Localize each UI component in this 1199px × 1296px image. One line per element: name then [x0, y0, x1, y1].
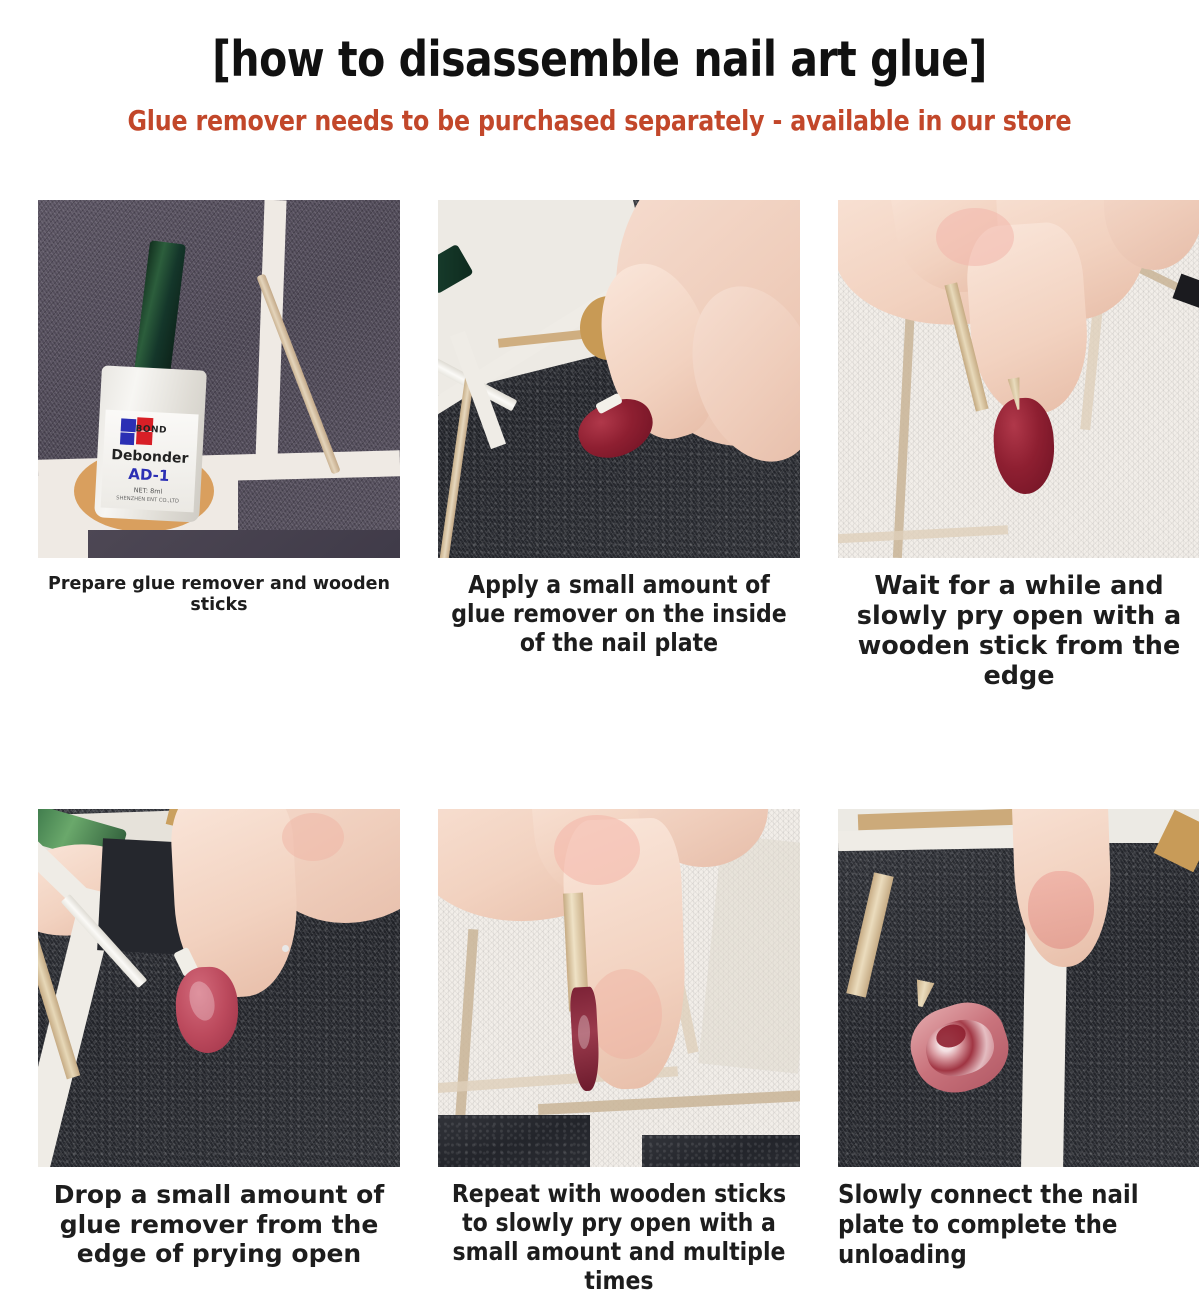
step-image-5: [438, 809, 800, 1167]
wooden-stick-tip: [911, 980, 934, 1009]
step-caption-5: Repeat with wooden sticks to slowly pry …: [438, 1167, 800, 1296]
towel-stripe-horizontal-2: [538, 1090, 800, 1115]
step-card-2: Apply a small amount of glue remover on …: [438, 200, 800, 691]
towel-stripe-vertical: [893, 286, 916, 558]
mat-dark-square-right: [642, 1135, 800, 1167]
step-card-6: Slowly connect the nail plate to complet…: [838, 809, 1199, 1296]
nail-bed-highlight: [554, 815, 640, 885]
bottle-cap: [134, 240, 186, 376]
step-caption-2: Apply a small amount of glue remover on …: [438, 558, 800, 658]
step-image-4: [38, 809, 400, 1167]
mat-dark-square-left: [438, 1115, 590, 1167]
fingernail: [1028, 871, 1094, 949]
mat-dark-bottom: [88, 530, 400, 558]
step-image-3: [838, 200, 1199, 558]
step-card-4: Drop a small amount of glue remover from…: [38, 809, 400, 1296]
towel-shadow-right: [698, 835, 800, 1074]
step-card-5: Repeat with wooden sticks to slowly pry …: [438, 809, 800, 1296]
steps-row-bottom: Drop a small amount of glue remover from…: [38, 809, 1162, 1296]
steps-row-top: BOND Debonder AD-1 NET: 8ml SHENZHEN ENT…: [38, 200, 1162, 691]
bottle-body: BOND Debonder AD-1 NET: 8ml SHENZHEN ENT…: [94, 365, 207, 522]
dark-corner-accent: [1172, 274, 1199, 309]
step-caption-1: Prepare glue remover and wooden sticks: [38, 558, 400, 615]
header: [how to disassemble nail art glue] Glue …: [0, 0, 1199, 137]
page-title: [how to disassemble nail art glue]: [42, 34, 1157, 85]
brand-square-blue-2: [120, 432, 135, 445]
step-card-1: BOND Debonder AD-1 NET: 8ml SHENZHEN ENT…: [38, 200, 400, 691]
step-caption-6: Slowly connect the nail plate to complet…: [838, 1167, 1199, 1270]
step-card-3: Wait for a while and slowly pry open wit…: [838, 200, 1199, 691]
wooden-stick: [846, 873, 893, 998]
fingertip-shade: [588, 969, 662, 1059]
step-image-2: [438, 200, 800, 558]
finger-highlight: [936, 208, 1014, 266]
step-image-6: [838, 809, 1199, 1167]
step-caption-4: Drop a small amount of glue remover from…: [38, 1167, 400, 1269]
steps-grid: BOND Debonder AD-1 NET: 8ml SHENZHEN ENT…: [38, 200, 1162, 1296]
step-image-1: BOND Debonder AD-1 NET: 8ml SHENZHEN ENT…: [38, 200, 400, 558]
towel-stripe-bottom: [838, 525, 1008, 543]
page-subtitle: Glue remover needs to be purchased separ…: [24, 105, 1175, 137]
knuckle-highlight: [282, 813, 344, 861]
step-caption-3: Wait for a while and slowly pry open wit…: [838, 558, 1199, 691]
